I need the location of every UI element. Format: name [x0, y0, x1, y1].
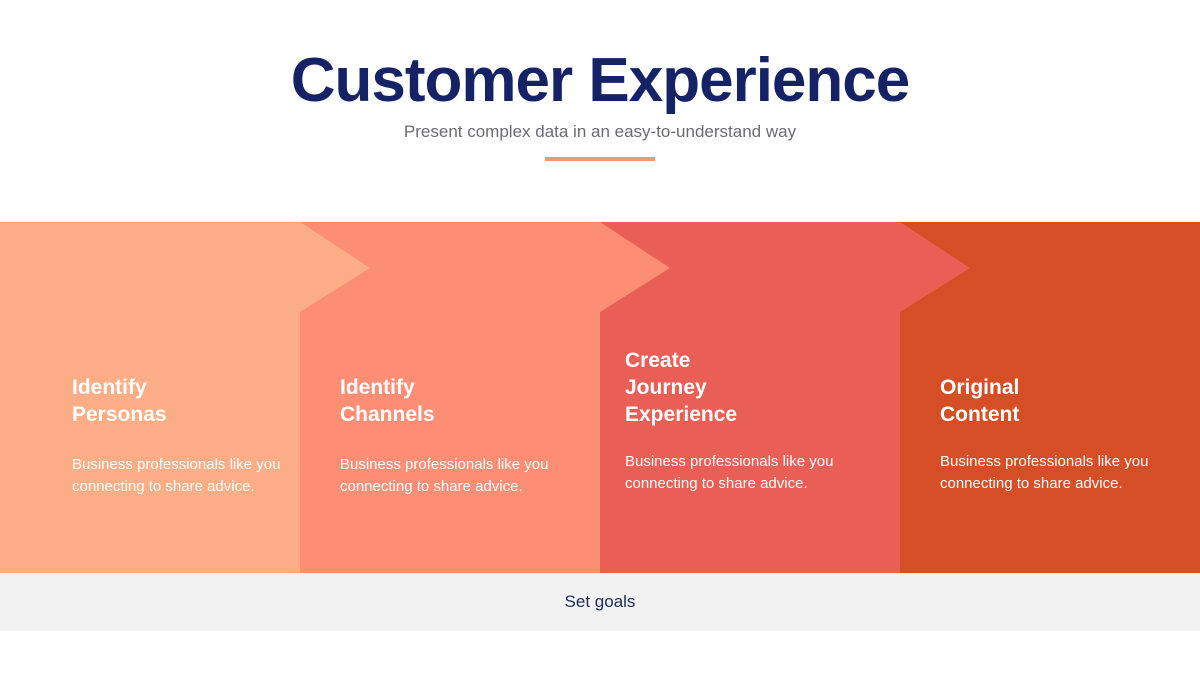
page-subtitle: Present complex data in an easy-to-under…	[0, 120, 1200, 144]
page-title: Customer Experience	[0, 44, 1200, 118]
step-1-heading-line-2: Personas	[72, 401, 302, 428]
step-1-body: Business professionals like you connecti…	[72, 454, 302, 498]
footer-bar: Set goals	[0, 573, 1200, 631]
accent-divider	[545, 157, 655, 161]
step-4-body-box: Business professionals like you connecti…	[940, 451, 1170, 495]
step-4-body: Business professionals like you connecti…	[940, 451, 1170, 495]
step-1-heading: Identify Personas	[72, 338, 302, 428]
footer-label: Set goals	[565, 591, 636, 613]
step-2-heading-line-1: Identify	[340, 374, 570, 401]
step-2-body: Business professionals like you connecti…	[340, 454, 570, 498]
step-3-heading-line-3: Experience	[625, 401, 855, 428]
step-4-heading-line-2: Content	[940, 401, 1170, 428]
step-2-heading-line-2: Channels	[340, 401, 570, 428]
step-2-heading: Identify Channels	[340, 338, 570, 428]
step-4-heading: Original Content	[940, 338, 1170, 428]
step-1-heading-line-1: Identify	[72, 374, 302, 401]
chevron-process-diagram: Identify Personas Business professionals…	[0, 222, 1200, 573]
step-1-body-box: Business professionals like you connecti…	[72, 454, 302, 498]
footer-spacer	[0, 631, 1200, 675]
step-3-body: Business professionals like you connecti…	[625, 451, 855, 495]
step-4-heading-line-1: Original	[940, 374, 1170, 401]
step-3-heading: Create Journey Experience	[625, 311, 855, 428]
slide-header: Customer Experience Present complex data…	[0, 0, 1200, 222]
slide-canvas: Customer Experience Present complex data…	[0, 0, 1200, 675]
step-3-heading-line-2: Journey	[625, 374, 855, 401]
step-2-body-box: Business professionals like you connecti…	[340, 454, 570, 498]
step-3-heading-line-1: Create	[625, 347, 855, 374]
step-3-body-box: Business professionals like you connecti…	[625, 451, 855, 495]
